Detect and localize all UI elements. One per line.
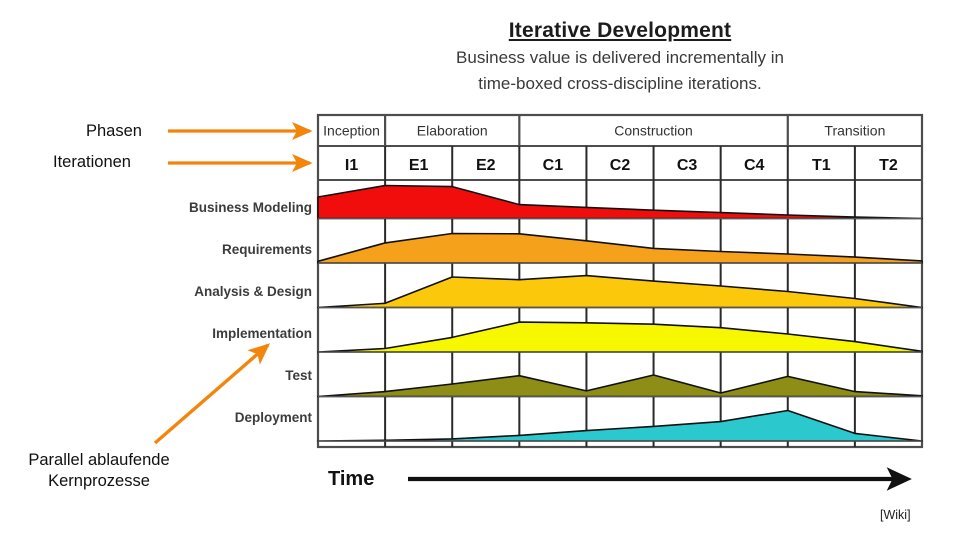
- discipline-band-test[interactable]: [318, 375, 922, 397]
- iteration-header-c2[interactable]: C2: [610, 157, 631, 174]
- phase-header-elaboration[interactable]: Elaboration: [417, 123, 488, 139]
- iteration-header-e1[interactable]: E1: [409, 157, 429, 174]
- discipline-band-implementation[interactable]: [318, 322, 922, 352]
- iteration-header-c3[interactable]: C3: [677, 157, 698, 174]
- band-area: [318, 186, 922, 219]
- diagram-canvas: Iterative Development Business value is …: [0, 0, 957, 549]
- discipline-band-requirements[interactable]: [318, 234, 922, 264]
- discipline-band-deployment[interactable]: [318, 411, 922, 442]
- phase-header-transition[interactable]: Transition: [824, 123, 885, 139]
- iteration-header-t1[interactable]: T1: [812, 157, 831, 174]
- iteration-header-e2[interactable]: E2: [476, 157, 496, 174]
- time-axis-label: Time: [328, 468, 374, 491]
- iteration-header-i1[interactable]: I1: [345, 157, 358, 174]
- source-credit: [Wiki]: [880, 508, 911, 522]
- band-area: [318, 322, 922, 352]
- band-area: [318, 276, 922, 308]
- band-area: [318, 411, 922, 442]
- iteration-header-c1[interactable]: C1: [543, 157, 564, 174]
- band-area: [318, 375, 922, 397]
- discipline-band-business-modeling[interactable]: [318, 186, 922, 219]
- iteration-header-c4[interactable]: C4: [744, 157, 765, 174]
- time-axis: Time: [318, 462, 928, 502]
- iteration-header-t2[interactable]: T2: [879, 157, 898, 174]
- band-area: [318, 234, 922, 264]
- phase-header-construction[interactable]: Construction: [614, 123, 693, 139]
- discipline-band-analysis-design[interactable]: [318, 276, 922, 308]
- phase-header-inception[interactable]: Inception: [323, 123, 380, 139]
- time-arrow: [318, 462, 928, 502]
